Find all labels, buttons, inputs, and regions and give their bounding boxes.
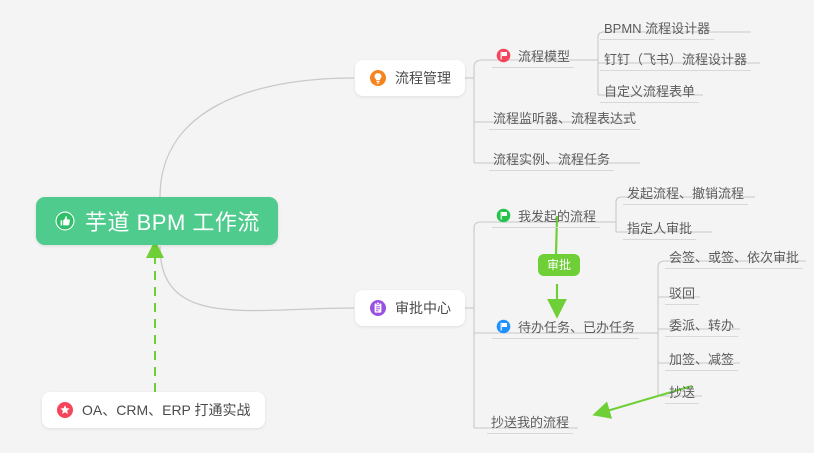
leaf-cc[interactable]: 抄送 [665,380,699,404]
leaf-label: 会签、或签、依次审批 [669,251,799,264]
flag-icon [496,48,511,63]
subnode-label-my-started: 我发起的流程 [518,210,596,223]
leaf-label: 自定义流程表单 [604,85,695,98]
leaf-bpmn-designer[interactable]: BPMN 流程设计器 [600,16,714,40]
leaf-dingtalk-designer[interactable]: 钉钉（飞书）流程设计器 [600,47,751,71]
clipboard-icon [369,299,387,317]
root-branch-curves [160,78,354,311]
approval-pill: 审批 [538,254,580,276]
lightbulb-icon [369,69,387,87]
leaf-delegate-transfer[interactable]: 委派、转办 [665,313,738,337]
subnode-my-started[interactable]: 我发起的流程 [492,204,600,228]
subnode-process-model[interactable]: 流程模型 [492,44,574,68]
subnode-instance-task[interactable]: 流程实例、流程任务 [489,147,614,171]
curve-to-process-management [160,78,354,197]
leaf-assignee-approval[interactable]: 指定人审批 [623,216,696,240]
subnode-label: 抄送我的流程 [491,416,569,429]
leaf-label: 发起流程、撤销流程 [627,187,744,200]
leaf-label: BPMN 流程设计器 [604,22,710,35]
mindmap-canvas: 芋道 BPM 工作流 OA、CRM、ERP 打通实战 流程管理 [0,0,814,453]
branch-label-process-management: 流程管理 [395,68,451,88]
leaf-custom-form[interactable]: 自定义流程表单 [600,79,699,103]
leaf-label: 驳回 [669,287,695,300]
root-node[interactable]: 芋道 BPM 工作流 [36,197,278,245]
subnode-label: 流程监听器、流程表达式 [493,112,636,125]
bottom-note-label: OA、CRM、ERP 打通实战 [82,400,251,420]
leaf-label: 钉钉（飞书）流程设计器 [604,53,747,66]
subnode-label: 流程实例、流程任务 [493,153,610,166]
leaf-countersign[interactable]: 会签、或签、依次审批 [665,245,803,269]
leaf-label: 加签、减签 [669,353,734,366]
root-label: 芋道 BPM 工作流 [85,205,260,237]
thumbs-up-icon [54,210,76,232]
flag-icon [496,208,511,223]
subnode-todo-done[interactable]: 待办任务、已办任务 [492,315,639,339]
subnode-label-todo-done: 待办任务、已办任务 [518,321,635,334]
branch-node-process-management[interactable]: 流程管理 [355,60,465,96]
leaf-reject[interactable]: 驳回 [665,281,699,305]
bottom-note-node[interactable]: OA、CRM、ERP 打通实战 [42,392,265,428]
subnode-cc-to-me[interactable]: 抄送我的流程 [487,410,573,434]
subnode-label-process-model: 流程模型 [518,50,570,63]
leaf-label: 委派、转办 [669,319,734,332]
branch-node-approval-center[interactable]: 审批中心 [355,290,465,326]
leaf-start-cancel-process[interactable]: 发起流程、撤销流程 [623,181,748,205]
flag-icon [496,319,511,334]
branch-label-approval-center: 审批中心 [395,298,451,318]
leaf-label: 抄送 [669,386,695,399]
leaf-add-remove-sign[interactable]: 加签、减签 [665,347,738,371]
leaf-label: 指定人审批 [627,222,692,235]
curve-to-approval-center [160,246,354,311]
subnode-listener-expression[interactable]: 流程监听器、流程表达式 [489,106,640,130]
star-icon [56,401,74,419]
